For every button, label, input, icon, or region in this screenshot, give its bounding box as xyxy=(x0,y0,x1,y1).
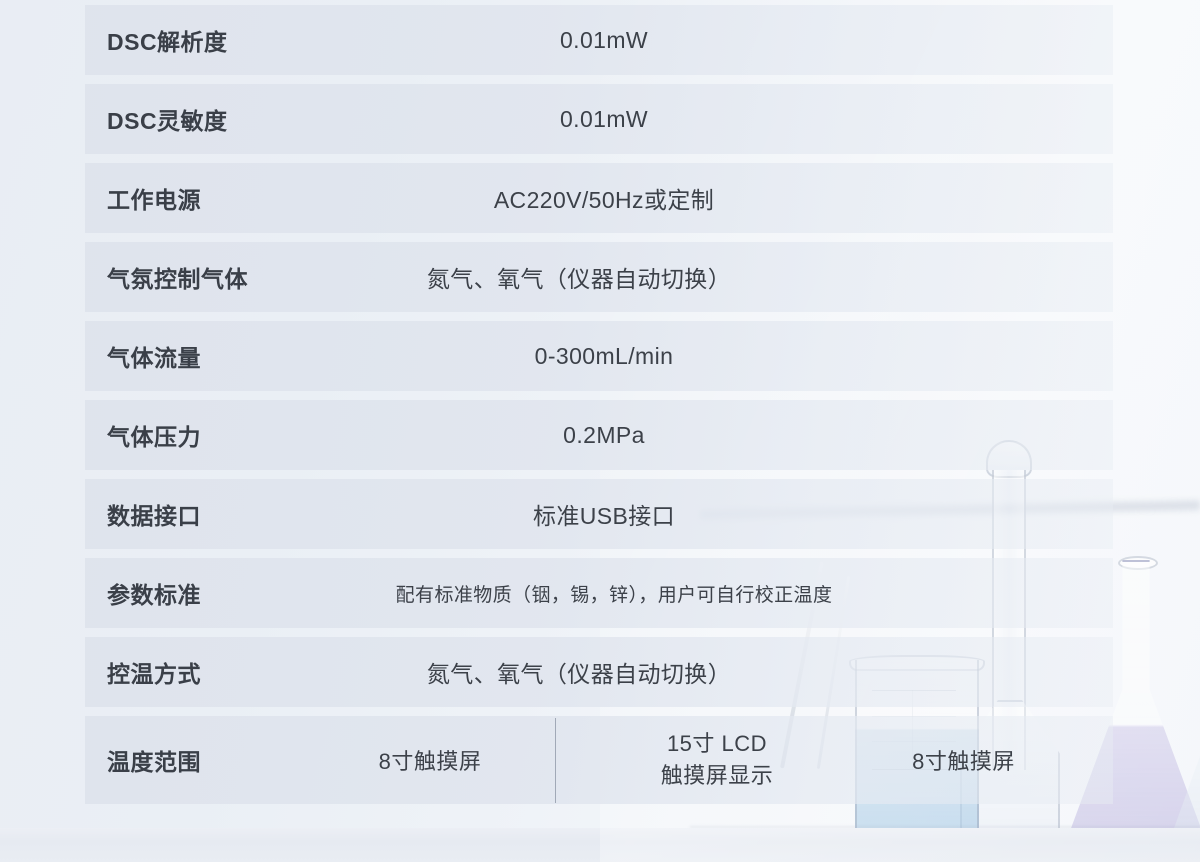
screen-size-left: 8寸触摸屏 xyxy=(305,744,555,776)
spec-label: 工作电源 xyxy=(85,181,305,215)
table-row: DSC解析度 0.01mW xyxy=(85,5,1113,75)
spec-label: 参数标准 xyxy=(85,576,305,610)
spec-value: 0.01mW xyxy=(305,106,1113,133)
spec-label: 气体流量 xyxy=(85,339,305,373)
screen-size-right: 8寸触摸屏 xyxy=(872,744,1113,776)
vertical-divider xyxy=(555,718,556,803)
table-row: 气体压力 0.2MPa xyxy=(85,400,1113,470)
spec-value: 氮气、氧气（仪器自动切换） xyxy=(305,260,1113,294)
table-row-temperature-range: 温度范围 8寸触摸屏 15寸 LCD 触摸屏显示 8寸触摸屏 xyxy=(85,716,1113,804)
table-row: 数据接口 标准USB接口 xyxy=(85,479,1113,549)
specification-table: DSC解析度 0.01mW DSC灵敏度 0.01mW 工作电源 AC220V/… xyxy=(85,5,1113,804)
table-row: DSC灵敏度 0.01mW xyxy=(85,84,1113,154)
spec-value: 0.2MPa xyxy=(305,422,1113,449)
table-row: 气氛控制气体 氮气、氧气（仪器自动切换） xyxy=(85,242,1113,312)
spec-label: 控温方式 xyxy=(85,655,305,689)
spec-value: 标准USB接口 xyxy=(305,497,1113,531)
bench-surface xyxy=(0,828,1200,862)
spec-value: 氮气、氧气（仪器自动切换） xyxy=(305,655,1113,689)
spec-label: 温度范围 xyxy=(85,743,305,777)
spec-label: DSC灵敏度 xyxy=(85,102,305,136)
spec-value: 0.01mW xyxy=(305,27,1113,54)
screen-size-center: 15寸 LCD 触摸屏显示 xyxy=(562,728,872,792)
spec-label: 气体压力 xyxy=(85,418,305,452)
table-row: 参数标准 配有标准物质（铟，锡，锌），用户可自行校正温度 xyxy=(85,558,1113,628)
table-row: 气体流量 0-300mL/min xyxy=(85,321,1113,391)
screen-size-center-line2: 触摸屏显示 xyxy=(562,760,872,792)
spec-value: 配有标准物质（铟，锡，锌），用户可自行校正温度 xyxy=(305,580,1113,607)
spec-label: 数据接口 xyxy=(85,497,305,531)
spec-label: 气氛控制气体 xyxy=(85,260,305,294)
table-row: 控温方式 氮气、氧气（仪器自动切换） xyxy=(85,637,1113,707)
spec-value: AC220V/50Hz或定制 xyxy=(305,181,1113,215)
spec-label: DSC解析度 xyxy=(85,23,305,57)
table-row: 工作电源 AC220V/50Hz或定制 xyxy=(85,163,1113,233)
spec-value: 0-300mL/min xyxy=(305,343,1113,370)
screen-size-center-line1: 15寸 LCD xyxy=(562,728,872,760)
